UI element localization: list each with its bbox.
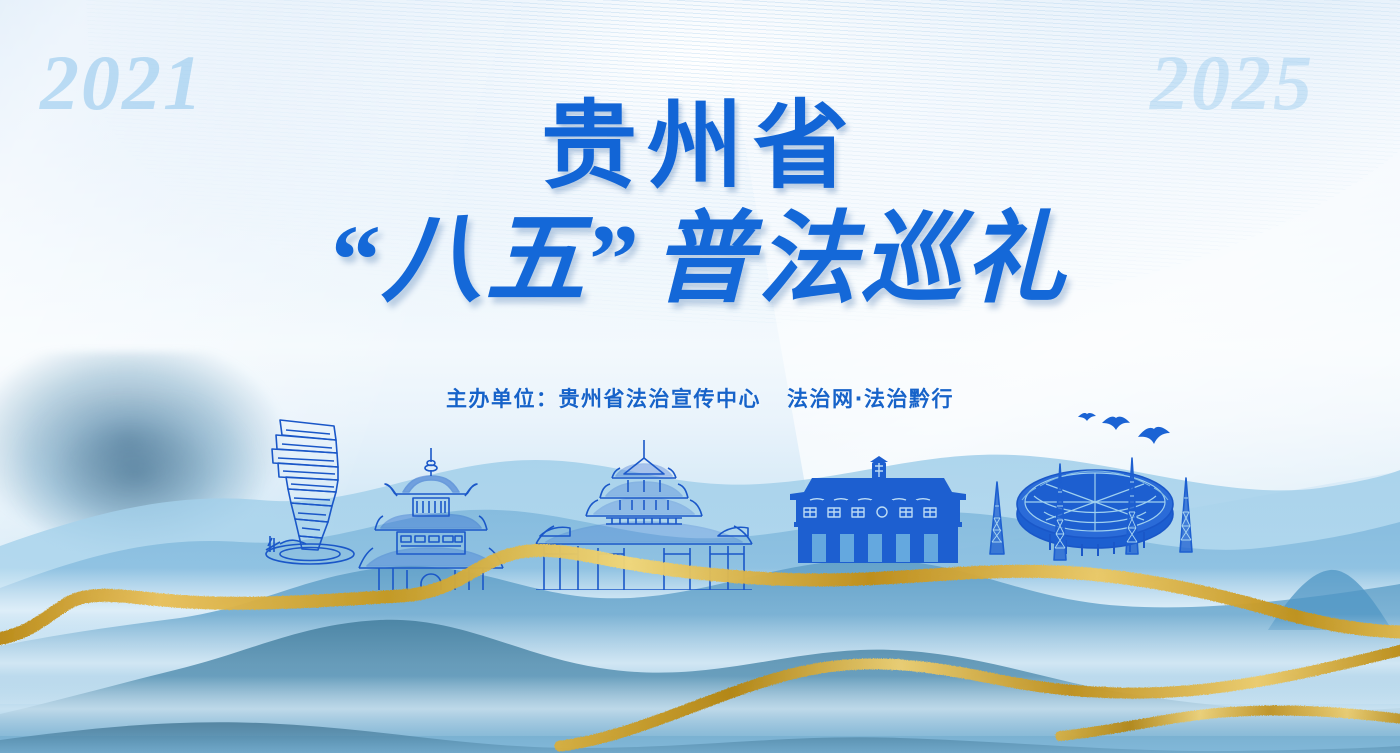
gold-ribbon-3 xyxy=(1060,710,1400,736)
subtitle-block: 主办单位：贵州省法治宣传中心法治网·法治黔行 xyxy=(0,383,1400,413)
bird-icon-3 xyxy=(1138,427,1170,444)
title-block: 贵州省 “八五”普法巡礼 xyxy=(0,96,1400,315)
golden-ribbons xyxy=(0,540,1400,753)
gold-ribbon-1 xyxy=(0,550,1400,640)
bird-icon-1 xyxy=(1078,413,1096,421)
quote-close: ” xyxy=(589,204,639,315)
title-tail-text: 普法巡礼 xyxy=(653,199,1069,317)
subtitle-organizer: 主办单位：贵州省法治宣传中心 xyxy=(446,387,761,411)
gold-ribbon-2 xyxy=(560,648,1400,746)
quote-open: “ xyxy=(331,204,381,315)
banner-root: 2021 2025 xyxy=(0,0,1400,753)
title-inner-text: 八五 xyxy=(381,199,589,317)
page-title-line-1: 贵州省 xyxy=(0,96,1400,197)
bird-icon-2 xyxy=(1102,417,1130,430)
page-title-line-2: “八五”普法巡礼 xyxy=(0,203,1400,315)
subtitle-media: 法治网·法治黔行 xyxy=(787,387,954,411)
